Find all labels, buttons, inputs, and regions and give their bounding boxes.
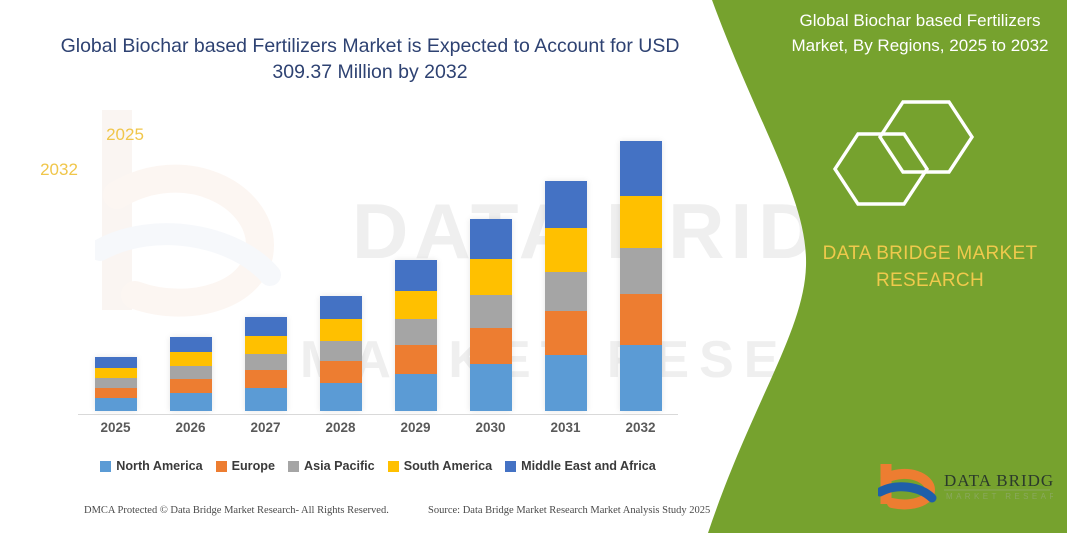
data-bridge-logo-icon: DATA BRIDGE MARKET RESEARCH [878,460,1053,510]
bar-segment-asia-pacific[interactable] [170,366,212,379]
legend-label: Europe [232,459,275,473]
x-tick-2028: 2028 [311,420,371,435]
x-tick-2026: 2026 [161,420,221,435]
legend-label: North America [116,459,202,473]
x-tick-2029: 2029 [386,420,446,435]
bar-2026[interactable] [170,337,212,411]
bar-segment-north-america[interactable] [470,364,512,411]
legend-item-europe[interactable]: Europe [216,459,275,473]
bar-segment-north-america[interactable] [395,374,437,411]
bar-segment-asia-pacific[interactable] [395,319,437,345]
legend-swatch [216,461,227,472]
svg-text:MARKET RESEARCH: MARKET RESEARCH [946,492,1053,501]
legend-label: Asia Pacific [304,459,375,473]
bar-segment-middle-east-and-africa[interactable] [545,181,587,228]
green-panel-title: Global Biochar based Fertilizers Market,… [780,8,1060,58]
legend-item-middle-east-and-africa[interactable]: Middle East and Africa [505,459,656,473]
bar-segment-middle-east-and-africa[interactable] [170,337,212,352]
bar-segment-asia-pacific[interactable] [545,272,587,311]
bar-segment-asia-pacific[interactable] [245,354,287,370]
bar-segment-south-america[interactable] [170,352,212,366]
infographic-canvas: DATA BRIDGE MARKET RESEARCH Global Bioch… [0,0,1067,533]
legend-swatch [388,461,399,472]
bar-segment-south-america[interactable] [95,368,137,378]
hexagon-group [825,98,1015,213]
legend-item-north-america[interactable]: North America [100,459,202,473]
brand-line-1: DATA BRIDGE MARKET [823,243,1038,264]
bar-segment-asia-pacific[interactable] [320,341,362,360]
bar-segment-middle-east-and-africa[interactable] [95,357,137,368]
bar-segment-north-america[interactable] [95,398,137,411]
brand-line-2: RESEARCH [876,270,984,291]
bar-segment-south-america[interactable] [245,336,287,354]
bar-2031[interactable] [545,181,587,411]
bar-segment-middle-east-and-africa[interactable] [395,260,437,291]
brand-name: DATA BRIDGE MARKET RESEARCH [800,240,1060,294]
x-tick-2031: 2031 [536,420,596,435]
bar-segment-south-america[interactable] [395,291,437,320]
stacked-bar-chart [78,110,678,415]
bar-segment-europe[interactable] [470,328,512,365]
bar-segment-europe[interactable] [320,361,362,383]
bar-2028[interactable] [320,296,362,411]
bar-segment-europe[interactable] [95,388,137,398]
hexagon-2025-label: 2025 [80,125,170,145]
legend-label: South America [404,459,492,473]
svg-text:DATA BRIDGE: DATA BRIDGE [944,471,1053,490]
footer: DMCA Protected © Data Bridge Market Rese… [0,505,700,525]
bar-segment-north-america[interactable] [170,393,212,411]
bar-segment-middle-east-and-africa[interactable] [470,219,512,258]
legend-item-asia-pacific[interactable]: Asia Pacific [288,459,375,473]
page-title: Global Biochar based Fertilizers Market … [60,33,680,85]
x-tick-2030: 2030 [461,420,521,435]
bar-2029[interactable] [395,260,437,411]
bar-segment-north-america[interactable] [320,383,362,411]
legend-label: Middle East and Africa [521,459,656,473]
plot-area [78,110,678,412]
bar-segment-europe[interactable] [170,379,212,393]
x-axis-labels: 20252026202720282029203020312032 [78,420,678,442]
bar-2027[interactable] [245,317,287,411]
x-tick-2027: 2027 [236,420,296,435]
bar-2025[interactable] [95,357,137,411]
hexagon-2032-label: 2032 [14,160,104,180]
bar-segment-middle-east-and-africa[interactable] [245,317,287,336]
hexagon-2032-shape [835,134,927,204]
bar-segment-asia-pacific[interactable] [470,295,512,328]
bar-segment-south-america[interactable] [545,228,587,272]
bar-segment-middle-east-and-africa[interactable] [320,296,362,320]
axis-baseline [78,414,678,415]
legend-swatch [288,461,299,472]
legend-swatch [100,461,111,472]
bar-segment-europe[interactable] [395,345,437,374]
footer-copyright: DMCA Protected © Data Bridge Market Rese… [84,505,389,516]
bar-segment-europe[interactable] [545,311,587,355]
legend-swatch [505,461,516,472]
bar-segment-north-america[interactable] [245,388,287,411]
x-tick-2025: 2025 [86,420,146,435]
bar-segment-south-america[interactable] [470,259,512,296]
legend-item-south-america[interactable]: South America [388,459,492,473]
bar-segment-south-america[interactable] [320,319,362,341]
bar-segment-north-america[interactable] [545,355,587,411]
bar-2030[interactable] [470,219,512,411]
hexagon-2025-shape [880,102,972,172]
bar-segment-europe[interactable] [245,370,287,388]
chart-legend: North AmericaEuropeAsia PacificSouth Ame… [78,455,678,477]
bar-segment-asia-pacific[interactable] [95,378,137,387]
